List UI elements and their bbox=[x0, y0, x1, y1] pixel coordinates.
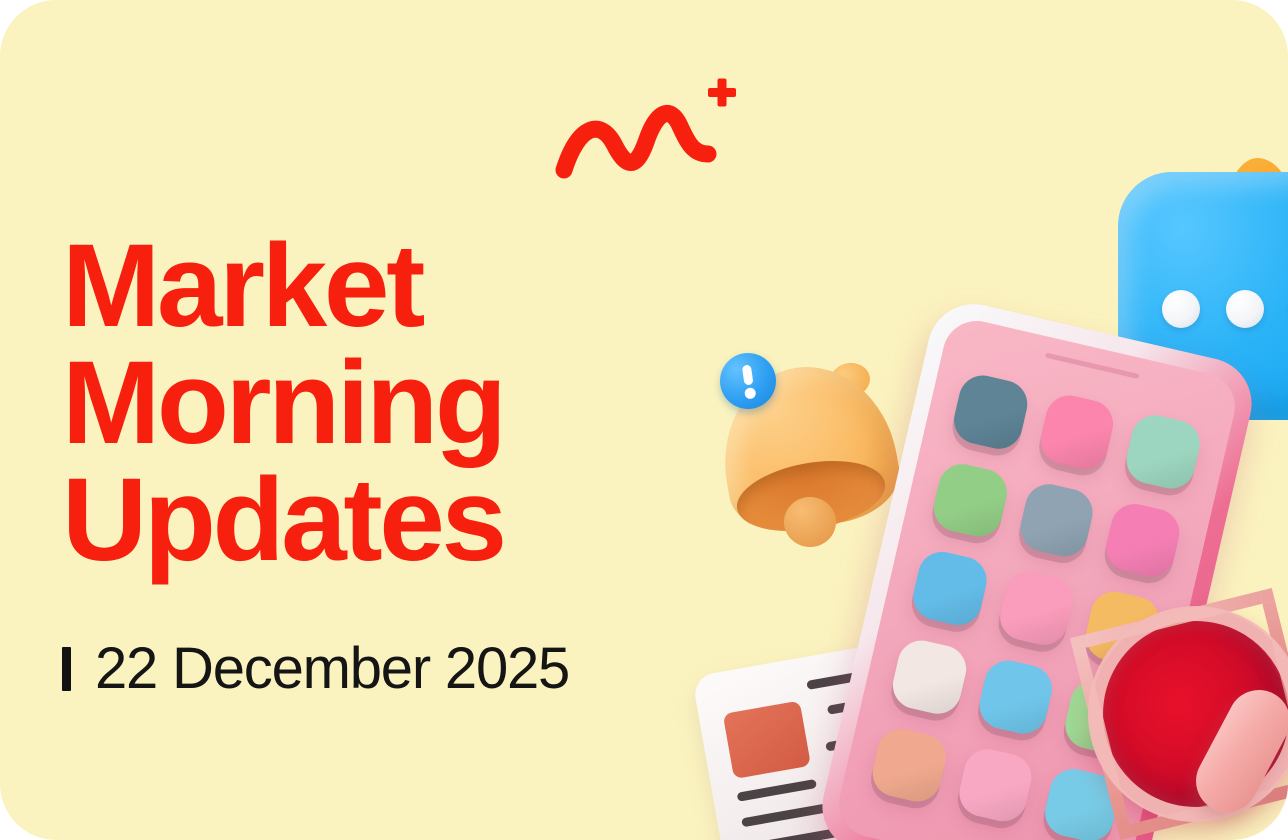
exclamation-dot bbox=[744, 387, 756, 399]
phone-speaker-slot bbox=[1045, 353, 1140, 379]
market-morning-updates-banner: Market Morning Updates 22 December 2025 bbox=[0, 0, 1288, 840]
date-text: 22 December 2025 bbox=[95, 640, 569, 698]
app-tile-4[interactable] bbox=[929, 459, 1011, 541]
app-tile-3[interactable] bbox=[1122, 411, 1204, 493]
app-tile-1[interactable] bbox=[949, 371, 1031, 453]
typing-dot-1 bbox=[1162, 290, 1200, 328]
megaphone-icon bbox=[1092, 602, 1288, 840]
app-tile-14[interactable] bbox=[954, 744, 1036, 826]
illustration-cluster bbox=[660, 0, 1288, 840]
date-accent-bar-icon bbox=[62, 647, 71, 691]
app-tile-2[interactable] bbox=[1036, 391, 1118, 473]
headline-line-2: Morning bbox=[62, 345, 722, 462]
headline-line-3: Updates bbox=[62, 462, 722, 579]
typing-dot-2 bbox=[1226, 290, 1264, 328]
news-image-block bbox=[723, 701, 811, 780]
bell-clapper bbox=[784, 497, 836, 547]
app-tile-11[interactable] bbox=[975, 656, 1057, 738]
app-tile-10[interactable] bbox=[888, 636, 970, 718]
exclamation-stem bbox=[742, 364, 754, 385]
app-tile-8[interactable] bbox=[995, 567, 1077, 649]
typing-dots bbox=[1162, 290, 1288, 328]
app-tile-7[interactable] bbox=[909, 547, 991, 629]
app-tile-5[interactable] bbox=[1015, 479, 1097, 561]
page-title: Market Morning Updates bbox=[62, 228, 722, 578]
news-text-line bbox=[737, 779, 817, 802]
notification-bell-icon bbox=[712, 345, 912, 560]
app-tile-13[interactable] bbox=[868, 724, 950, 806]
app-tile-6[interactable] bbox=[1102, 499, 1184, 581]
headline-line-1: Market bbox=[62, 228, 722, 345]
date-row: 22 December 2025 bbox=[62, 640, 569, 698]
